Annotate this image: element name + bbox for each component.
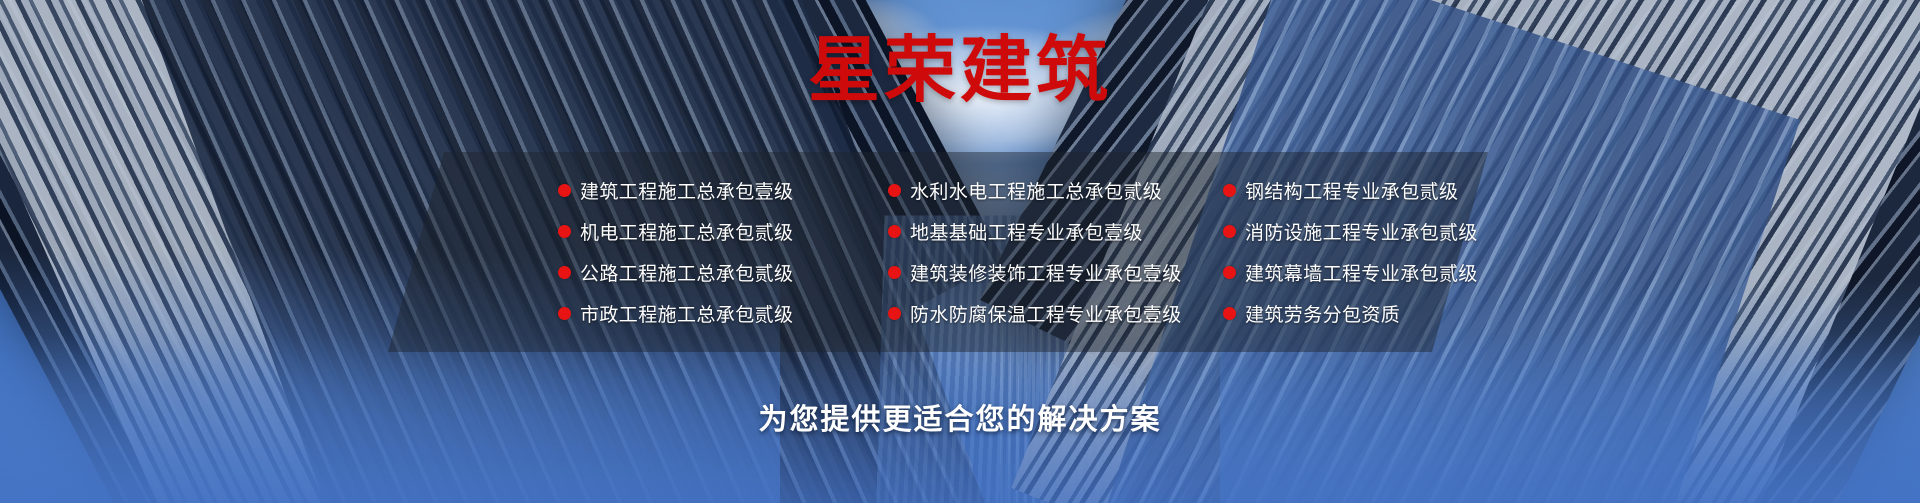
bullet-dot-icon — [558, 184, 571, 197]
list-item: 建筑工程施工总承包壹级 — [558, 177, 888, 204]
list-item: 机电工程施工总承包贰级 — [558, 218, 888, 245]
list-item: 建筑幕墙工程专业承包贰级 — [1223, 259, 1488, 286]
qualification-column-2: 水利水电工程施工总承包贰级 地基基础工程专业承包壹级 建筑装修装饰工程专业承包壹… — [888, 177, 1223, 327]
list-item: 公路工程施工总承包贰级 — [558, 259, 888, 286]
qualifications-grid: 建筑工程施工总承包壹级 机电工程施工总承包贰级 公路工程施工总承包贰级 市政工程… — [388, 152, 1488, 352]
qualification-column-1: 建筑工程施工总承包壹级 机电工程施工总承包贰级 公路工程施工总承包贰级 市政工程… — [558, 177, 888, 327]
bullet-dot-icon — [1223, 307, 1236, 320]
qualifications-panel: 建筑工程施工总承包壹级 机电工程施工总承包贰级 公路工程施工总承包贰级 市政工程… — [0, 152, 1920, 352]
qualification-label: 水利水电工程施工总承包贰级 — [910, 177, 1162, 204]
bullet-dot-icon — [888, 184, 901, 197]
qualification-label: 消防设施工程专业承包贰级 — [1245, 218, 1478, 245]
list-item: 建筑装修装饰工程专业承包壹级 — [888, 259, 1223, 286]
list-item: 水利水电工程施工总承包贰级 — [888, 177, 1223, 204]
qualification-label: 建筑工程施工总承包壹级 — [580, 177, 793, 204]
list-item: 消防设施工程专业承包贰级 — [1223, 218, 1488, 245]
qualification-label: 地基基础工程专业承包壹级 — [910, 218, 1143, 245]
list-item: 地基基础工程专业承包壹级 — [888, 218, 1223, 245]
bullet-dot-icon — [1223, 225, 1236, 238]
qualification-label: 机电工程施工总承包贰级 — [580, 218, 793, 245]
qualification-label: 钢结构工程专业承包贰级 — [1245, 177, 1458, 204]
qualification-label: 市政工程施工总承包贰级 — [580, 300, 793, 327]
bullet-dot-icon — [888, 307, 901, 320]
qualification-label: 建筑装修装饰工程专业承包壹级 — [910, 259, 1182, 286]
banner-tagline: 为您提供更适合您的解决方案 — [0, 396, 1920, 438]
list-item: 建筑劳务分包资质 — [1223, 300, 1488, 327]
qualification-label: 公路工程施工总承包贰级 — [580, 259, 793, 286]
bullet-dot-icon — [558, 225, 571, 238]
list-item: 防水防腐保温工程专业承包壹级 — [888, 300, 1223, 327]
bullet-dot-icon — [888, 225, 901, 238]
bullet-dot-icon — [558, 266, 571, 279]
qualification-label: 防水防腐保温工程专业承包壹级 — [910, 300, 1182, 327]
bullet-dot-icon — [888, 266, 901, 279]
bullet-dot-icon — [1223, 266, 1236, 279]
bullet-dot-icon — [558, 307, 571, 320]
company-title: 星荣建筑 — [0, 34, 1920, 106]
qualification-column-3: 钢结构工程专业承包贰级 消防设施工程专业承包贰级 建筑幕墙工程专业承包贰级 建筑… — [1223, 177, 1488, 327]
bullet-dot-icon — [1223, 184, 1236, 197]
list-item: 市政工程施工总承包贰级 — [558, 300, 888, 327]
qualification-label: 建筑劳务分包资质 — [1245, 300, 1400, 327]
list-item: 钢结构工程专业承包贰级 — [1223, 177, 1488, 204]
hero-banner: 星荣建筑 建筑工程施工总承包壹级 机电工程施工总承包贰级 公路工程施工总承包贰级 — [0, 0, 1920, 503]
qualification-label: 建筑幕墙工程专业承包贰级 — [1245, 259, 1478, 286]
